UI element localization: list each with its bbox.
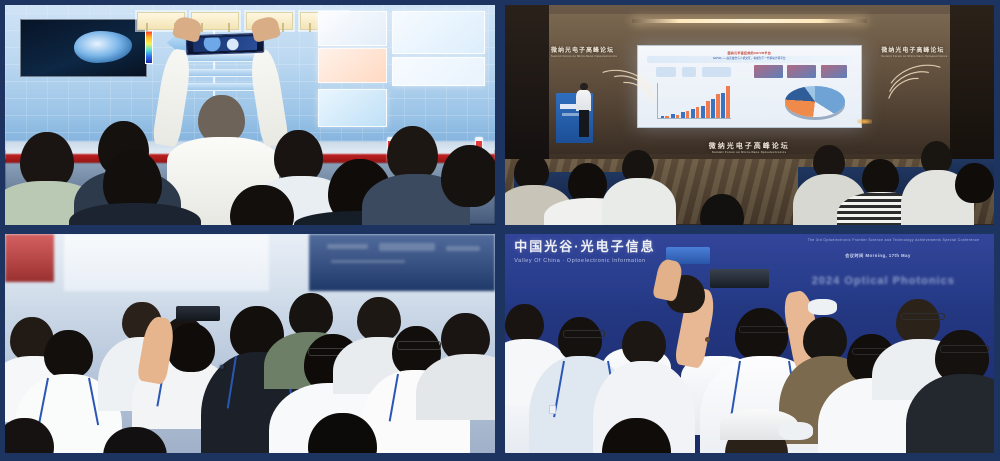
backdrop-date-line: 会议时间 Morning, 17th May	[845, 253, 911, 259]
smartphone-icon	[176, 306, 220, 321]
pie-chart-icon	[785, 86, 845, 117]
bar-chart-icon	[651, 83, 731, 119]
eyeglasses-icon	[739, 326, 788, 334]
stage-banner-right-en: Summit Forum on Micro-Nano Optoelectroni…	[881, 55, 947, 58]
panel-summit-forum-auditorium: 微纳光电子高峰论坛 Summit Forum on Micro-Nano Opt…	[505, 5, 995, 225]
panel-dense-audience-crowd	[5, 234, 495, 454]
backdrop-conference-line: The 3rd Optoelectronic Frontier Science …	[808, 238, 980, 242]
micrograph-thumb	[392, 11, 485, 54]
micrograph-thumb	[392, 57, 485, 86]
slide-photo-c	[821, 65, 848, 78]
chip-card-row	[137, 12, 347, 29]
slide-icon-a	[656, 67, 676, 78]
stage-banner-left: 微纳光电子高峰论坛 Summit Forum on Micro-Nano Opt…	[551, 45, 617, 58]
slide-subtitle-band: AR/VR——虚实融合与人机交互，将成为下一代移动计算平台	[647, 56, 852, 63]
backdrop-headline-en: Valley Of China · Optoelectronic Informa…	[514, 258, 645, 264]
panel-exhibition-hall-screen-audience	[5, 5, 495, 225]
projection-screen: 面向元宇宙应用的AR/VR平台 AR/VR——虚实融合与人机交互，将成为下一代移…	[637, 45, 862, 128]
bar-group	[721, 82, 729, 118]
eyeglasses-icon	[397, 341, 441, 350]
backdrop-headline-cn: 中国光谷·光电子信息	[514, 236, 655, 255]
bar-group	[691, 82, 699, 118]
micrograph-thumb	[318, 11, 387, 46]
bar-group	[661, 82, 669, 118]
panel-conference-crowd-blue-backdrop: 中国光谷·光电子信息 Valley Of China · Optoelectro…	[505, 234, 995, 454]
bar-group	[681, 82, 689, 118]
bar-group	[701, 82, 709, 118]
bar-group	[671, 82, 679, 118]
bar-group	[711, 82, 719, 118]
stage-banner-left-en: Summit Forum on Micro-Nano Optoelectroni…	[551, 55, 617, 58]
eyeglasses-icon	[563, 330, 605, 338]
slide-icon-b	[682, 67, 695, 78]
slide-photo-b	[787, 65, 816, 78]
stage-glow	[857, 119, 872, 123]
face-mask-icon	[808, 299, 837, 314]
stage-lower-band-cn: 微纳光电子高峰论坛	[709, 143, 790, 150]
micrograph-thumb	[318, 48, 387, 83]
speaker-head	[580, 83, 587, 90]
chart-x-axis	[657, 118, 731, 119]
wall-panel-right	[950, 5, 994, 163]
bracelet	[705, 337, 710, 342]
chart-bars	[661, 82, 730, 118]
photo-collage: 微纳光电子高峰论坛 Summit Forum on Micro-Nano Opt…	[0, 0, 1000, 461]
stage-banner-right: 微纳光电子高峰论坛 Summit Forum on Micro-Nano Opt…	[881, 45, 947, 58]
stage-light-bar	[632, 19, 867, 23]
stage-banner-left-cn: 微纳光电子高峰论坛	[551, 48, 614, 54]
slide-photo-a	[754, 65, 783, 78]
eyeglasses-icon	[901, 313, 945, 321]
slide-subtitle: AR/VR——虚实融合与人机交互，将成为下一代移动计算平台	[647, 56, 852, 61]
wall-panel-left	[505, 5, 549, 163]
backdrop-year-line: 2024 Optical Photonics	[812, 275, 955, 287]
speaker-legs	[579, 110, 589, 136]
color-scale-bar	[145, 30, 154, 65]
slide-icon-c	[702, 67, 731, 78]
slide-title: 面向元宇宙应用的AR/VR平台	[638, 50, 861, 55]
eyeglasses-icon	[940, 345, 989, 353]
chart-y-axis	[657, 83, 658, 119]
stage-banner-right-cn: 微纳光电子高峰论坛	[881, 48, 944, 54]
micrograph-thumb	[318, 89, 387, 127]
smartphone-icon	[710, 269, 769, 289]
face-mask-icon	[779, 422, 813, 440]
